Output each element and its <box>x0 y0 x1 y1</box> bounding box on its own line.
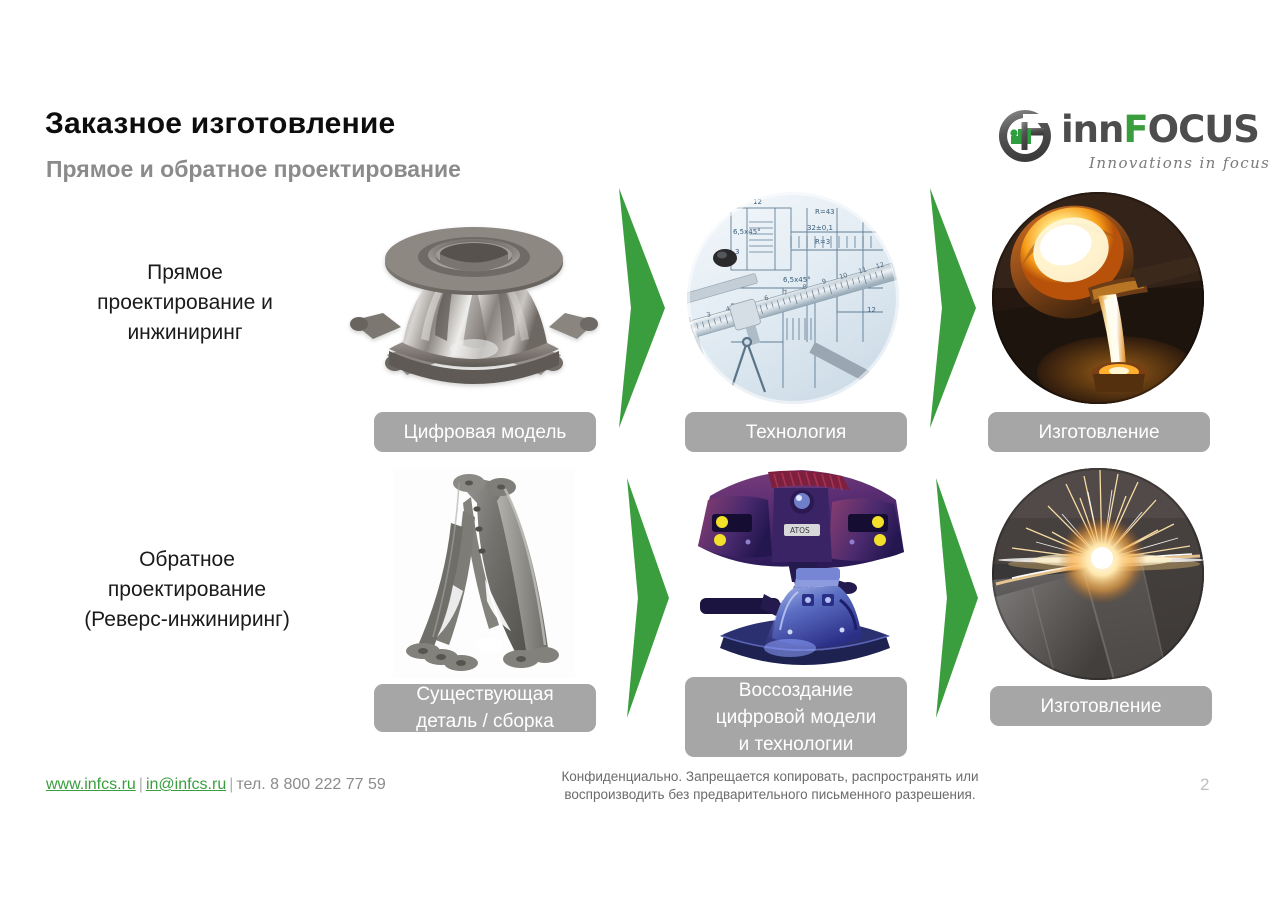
image-laser-welding <box>992 468 1204 680</box>
page-number: 2 <box>1200 775 1209 795</box>
svg-text:6,5x45°: 6,5x45° <box>783 276 811 284</box>
website-link[interactable]: www.infcs.ru <box>46 776 136 793</box>
row-label-line: Обратное <box>32 545 342 575</box>
image-existing-metal-part <box>393 467 575 678</box>
process-arrow-row2-1 <box>627 478 669 718</box>
caption-text-line: Существующая <box>416 681 553 708</box>
logo-word-ocus: OCUS <box>1148 108 1259 151</box>
image-molten-metal-pouring <box>992 192 1204 404</box>
caption-text: Изготовление <box>1038 419 1159 446</box>
caption-text-line: и технологии <box>739 731 854 758</box>
row-label-reverse-engineering: Обратное проектирование (Реверс-инжинири… <box>32 545 342 635</box>
svg-text:ATOS: ATOS <box>790 526 810 535</box>
page-title: Заказное изготовление <box>45 107 395 141</box>
svg-text:12: 12 <box>867 306 876 314</box>
footer-separator-1: | <box>136 776 146 793</box>
confidentiality-line-2: воспроизводить без предварительного пись… <box>520 786 1020 804</box>
process-arrow-row1-1 <box>619 188 665 428</box>
caption-text-line: деталь / сборка <box>416 708 554 735</box>
row-label-line: проектирование <box>32 575 342 605</box>
row-label-line: (Реверс-инжиниринг) <box>32 605 342 635</box>
image-3d-scanner: ATOS <box>690 470 912 678</box>
caption-manufacturing-row1: Изготовление <box>988 412 1210 452</box>
image-cad-digital-model <box>343 193 605 405</box>
svg-text:6,5x45°: 6,5x45° <box>733 228 761 236</box>
svg-text:R=3: R=3 <box>815 238 830 246</box>
row-label-line: проектирование и <box>40 288 330 318</box>
email-link[interactable]: in@infcs.ru <box>146 776 226 793</box>
caption-technology: Технология <box>685 412 907 452</box>
caption-digital-model-recreation: Воссоздание цифровой модели и технологии <box>685 677 907 757</box>
caption-text: Изготовление <box>1040 693 1161 720</box>
caption-existing-part: Существующая деталь / сборка <box>374 684 596 732</box>
confidentiality-line-1: Конфиденциально. Запрещается копировать,… <box>520 768 1020 786</box>
footer-contacts: www.infcs.ru|in@infcs.ru|тел. 8 800 222 … <box>46 776 386 794</box>
caption-text: Технология <box>746 419 847 446</box>
caption-text-line: цифровой модели <box>716 704 877 731</box>
logo-tagline: Innovations in focus <box>1089 154 1270 172</box>
logo-word-inn: inn <box>1061 108 1123 151</box>
slide-canvas: Заказное изготовление Прямое и обратное … <box>0 0 1283 907</box>
caption-text: Цифровая модель <box>404 419 567 446</box>
svg-text:32±0,1: 32±0,1 <box>807 224 833 232</box>
company-logo: innFOCUS Innovations in focus <box>997 106 1243 178</box>
caption-manufacturing-row2: Изготовление <box>990 686 1212 726</box>
row-label-line: инжиниринг <box>40 318 330 348</box>
footer-phone: тел. 8 800 222 77 59 <box>236 776 385 793</box>
logo-word-f: F <box>1123 108 1147 151</box>
infocus-circle-logo-icon <box>997 108 1053 164</box>
image-technical-drawing: 12 6,5x45° 3 R=43 32±0,1 R=3 6,5x45° 3 1… <box>687 192 899 404</box>
svg-text:R=43: R=43 <box>815 208 835 216</box>
row-label-forward-engineering: Прямое проектирование и инжиниринг <box>40 258 330 348</box>
process-arrow-row2-2 <box>936 478 978 718</box>
caption-text-line: Воссоздание <box>739 677 853 704</box>
caption-digital-model: Цифровая модель <box>374 412 596 452</box>
page-subtitle: Прямое и обратное проектирование <box>46 156 461 183</box>
logo-wordmark: innFOCUS <box>1061 110 1259 150</box>
process-arrow-row1-2 <box>930 188 976 428</box>
confidentiality-notice: Конфиденциально. Запрещается копировать,… <box>520 768 1020 804</box>
footer-separator-2: | <box>226 776 236 793</box>
row-label-line: Прямое <box>40 258 330 288</box>
